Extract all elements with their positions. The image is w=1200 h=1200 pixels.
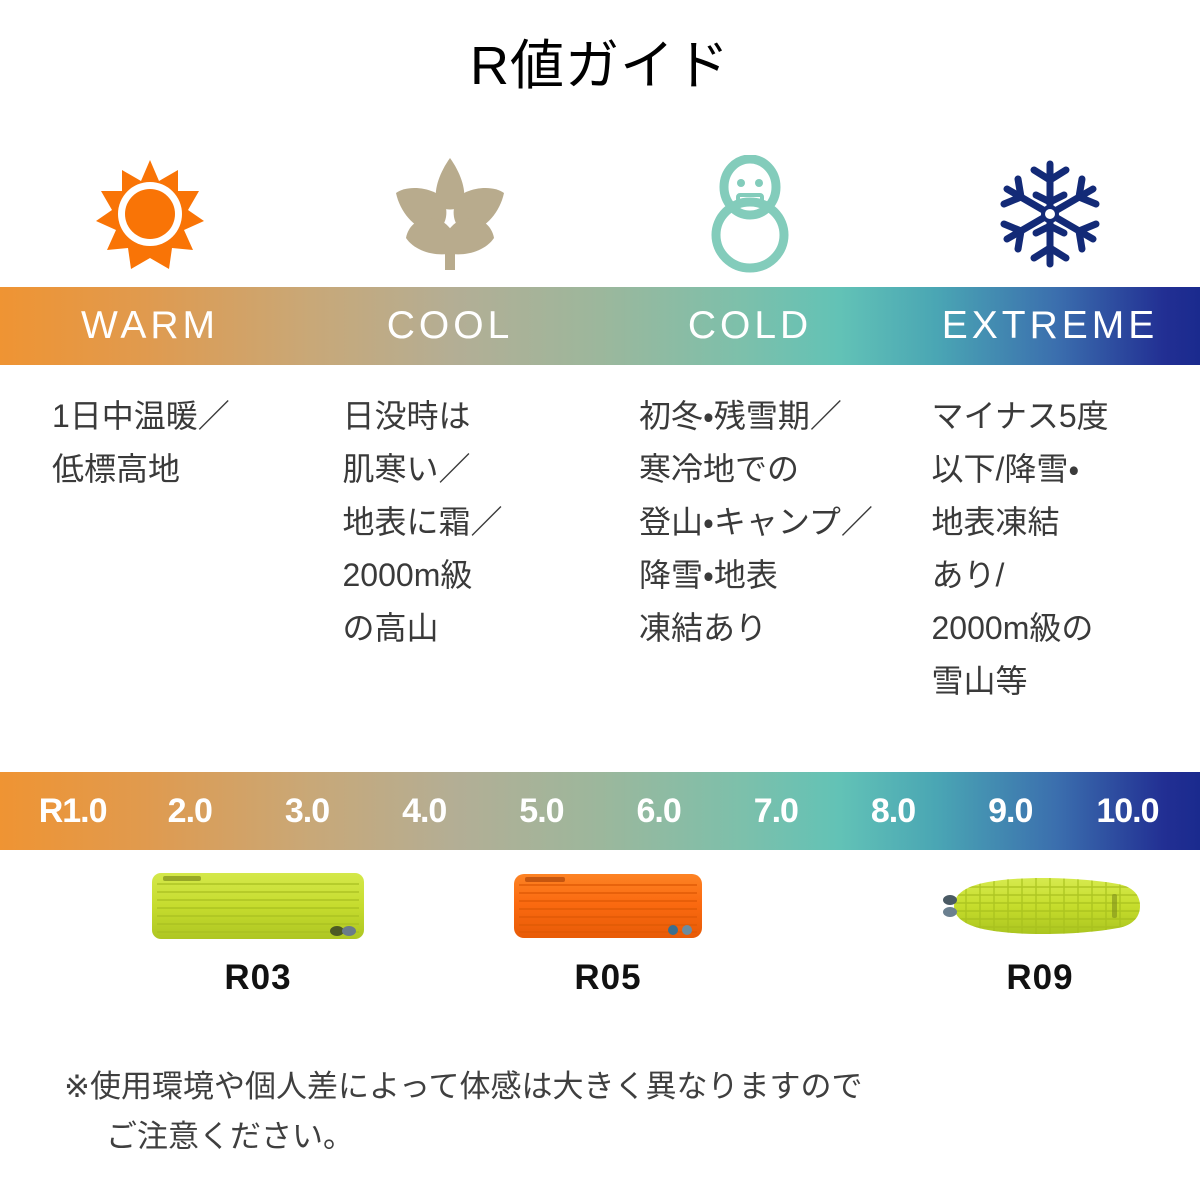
r-value-tick: 9.0	[952, 792, 1069, 831]
description-line: 肌寒い／	[343, 443, 598, 496]
category-label-extreme: EXTREME	[900, 304, 1200, 348]
description-line: 雪山等	[932, 655, 1187, 708]
snowman-icon	[704, 155, 796, 273]
sleeping-pad-green-rectangular-icon	[151, 870, 365, 947]
r-value-tick-row: R1.0 2.0 3.0 4.0 5.0 6.0 7.0 8.0 9.0 10.…	[0, 772, 1200, 850]
category-label-warm: WARM	[0, 304, 300, 348]
product-label-r09: R09	[930, 958, 1150, 998]
sleeping-pad-orange-rectangular-icon	[513, 870, 703, 947]
r-value-tick: 3.0	[248, 792, 365, 831]
r-value-tick: 6.0	[600, 792, 717, 831]
r-value-tick: 5.0	[483, 792, 600, 831]
description-line: 低標高地	[52, 443, 307, 496]
description-line: の高山	[343, 602, 598, 655]
footnote: ※使用環境や個人差によって体感は大きく異なりますので ご注意ください。	[64, 1062, 1154, 1162]
pad-image-wrap	[498, 862, 718, 954]
description-line: 2000m級の	[932, 602, 1187, 655]
description-column-warm: 1日中温暖／ 低標高地	[0, 390, 321, 708]
page-title: R値ガイド	[0, 34, 1200, 98]
icon-cell-warm	[0, 148, 300, 280]
pad-image-wrap	[148, 862, 368, 954]
footnote-line-1: ※使用環境や個人差によって体感は大きく異なりますので	[64, 1062, 1154, 1112]
icon-row	[0, 148, 1200, 280]
category-label-cold: COLD	[600, 304, 900, 348]
product-row: R03	[0, 862, 1200, 1012]
description-column-cool: 日没時は 肌寒い／ 地表に霜／ 2000m級 の高山	[321, 390, 612, 708]
product-r09[interactable]: R09	[930, 862, 1150, 998]
category-label-row: WARM COOL COLD EXTREME	[0, 287, 1200, 365]
category-gradient-band: WARM COOL COLD EXTREME	[0, 287, 1200, 365]
description-column-cold: 初冬・残雪期／ 寒冷地での 登山・キャンプ／ 降雪・地表 凍結あり	[611, 390, 908, 708]
sun-icon	[96, 158, 204, 270]
r-value-tick: 7.0	[717, 792, 834, 831]
r-value-tick: R1.0	[14, 792, 131, 831]
description-row: 1日中温暖／ 低標高地 日没時は 肌寒い／ 地表に霜／ 2000m級 の高山 初…	[0, 390, 1200, 708]
product-r05[interactable]: R05	[498, 862, 718, 998]
description-line: 日没時は	[343, 390, 598, 443]
r-value-guide-page: R値ガイド	[0, 0, 1200, 1200]
description-line: あり/	[932, 549, 1187, 602]
description-line: 1日中温暖／	[52, 390, 307, 443]
description-line: マイナス5度	[932, 390, 1187, 443]
r-value-tick: 4.0	[366, 792, 483, 831]
snowflake-icon	[998, 158, 1102, 270]
icon-cell-extreme	[900, 148, 1200, 280]
description-line: 降雪・地表	[639, 549, 894, 602]
product-r03[interactable]: R03	[148, 862, 368, 998]
description-column-extreme: マイナス5度 以下/降雪・ 地表凍結 あり/ 2000m級の 雪山等	[908, 390, 1200, 708]
footnote-line-2: ご注意ください。	[64, 1112, 1154, 1162]
product-label-r03: R03	[148, 958, 368, 998]
description-line: 凍結あり	[639, 602, 894, 655]
icon-cell-cold	[600, 148, 900, 280]
description-line: 寒冷地での	[639, 443, 894, 496]
r-value-tick: 2.0	[131, 792, 248, 831]
description-line: 地表に霜／	[343, 496, 598, 549]
product-label-r05: R05	[498, 958, 718, 998]
sleeping-pad-green-mummy-icon	[936, 872, 1144, 945]
description-line: 登山・キャンプ／	[639, 496, 894, 549]
r-value-tick: 10.0	[1069, 792, 1186, 831]
leaf-icon	[390, 156, 510, 272]
r-value-tick: 8.0	[834, 792, 951, 831]
description-line: 以下/降雪・	[932, 443, 1187, 496]
category-label-cool: COOL	[300, 304, 600, 348]
pad-image-wrap	[930, 862, 1150, 954]
r-value-scale-band: R1.0 2.0 3.0 4.0 5.0 6.0 7.0 8.0 9.0 10.…	[0, 772, 1200, 850]
description-line: 地表凍結	[932, 496, 1187, 549]
description-line: 初冬・残雪期／	[639, 390, 894, 443]
icon-cell-cool	[300, 148, 600, 280]
description-line: 2000m級	[343, 549, 598, 602]
